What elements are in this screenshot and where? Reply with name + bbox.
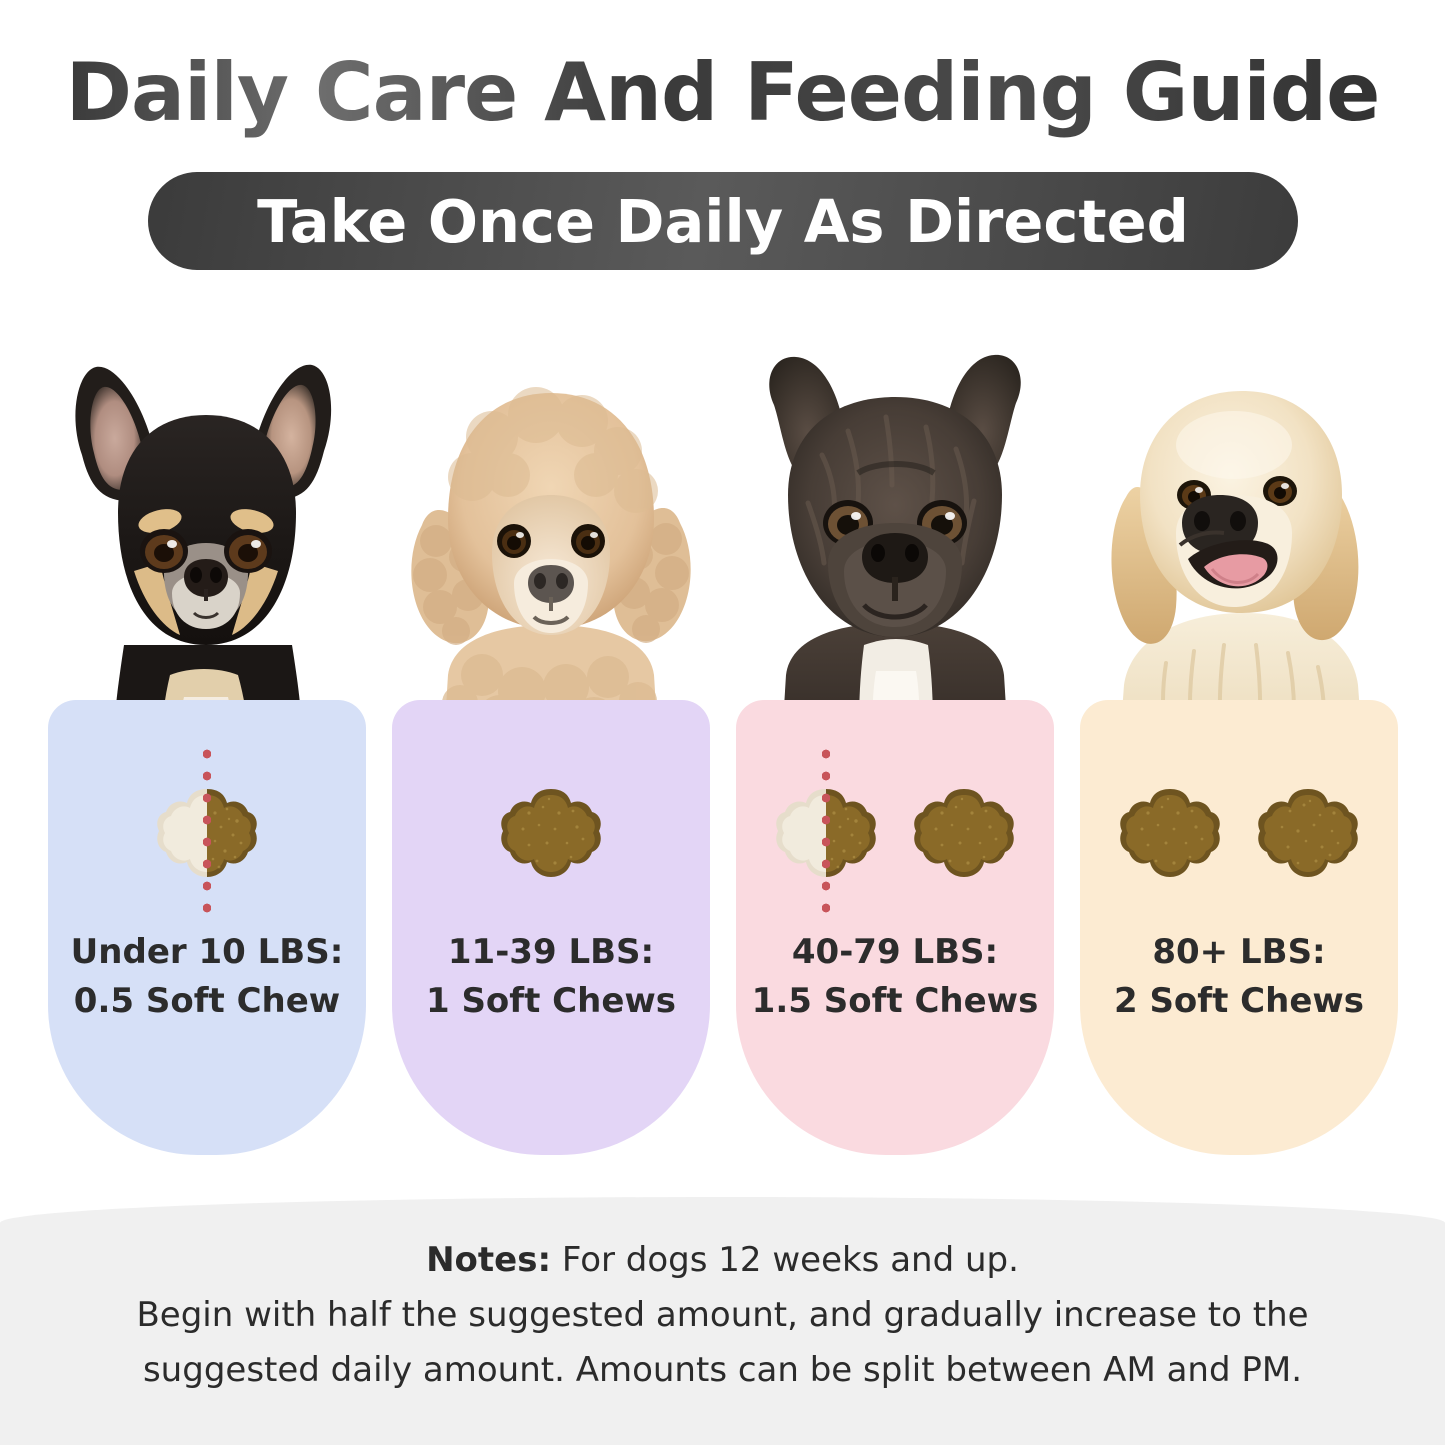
- full-chew-icon: [912, 781, 1016, 885]
- half-chew-icon: [155, 781, 259, 885]
- dog-photo-chihuahua: [48, 345, 366, 740]
- weight-range-text: 11-39 LBS:: [448, 932, 654, 972]
- full-chew-icon: [499, 781, 603, 885]
- dog-photo-poodle: [392, 345, 710, 740]
- weight-range-text: 40-79 LBS:: [792, 932, 998, 972]
- notes-text: Notes: For dogs 12 weeks and up. Begin w…: [0, 1233, 1445, 1398]
- subtitle-banner: Take Once Daily As Directed: [148, 172, 1298, 270]
- dog-photo-golden-retriever: [1080, 345, 1398, 740]
- half-chew-icon: [774, 781, 878, 885]
- notes-line-1: Notes: For dogs 12 weeks and up.: [0, 1233, 1445, 1288]
- notes-line-2: Begin with half the suggested amount, an…: [0, 1288, 1445, 1343]
- split-dotted-line: [822, 743, 830, 923]
- weight-range-text: Under 10 LBS:: [71, 932, 344, 972]
- card-dosage-label: 40-79 LBS: 1.5 Soft Chews: [736, 928, 1054, 1027]
- split-dotted-line: [203, 743, 211, 923]
- card-body: 40-79 LBS: 1.5 Soft Chews: [736, 700, 1054, 1155]
- dose-text: 1.5 Soft Chews: [736, 977, 1054, 1026]
- dose-text: 2 Soft Chews: [1080, 977, 1398, 1026]
- dose-text: 1 Soft Chews: [392, 977, 710, 1026]
- notes-line-3: suggested daily amount. Amounts can be s…: [0, 1343, 1445, 1398]
- subtitle-text: Take Once Daily As Directed: [257, 187, 1189, 256]
- notes-line-1-rest: For dogs 12 weeks and up.: [551, 1240, 1019, 1280]
- chew-illustration-group: [1080, 760, 1398, 905]
- weight-range-text: 80+ LBS:: [1152, 932, 1325, 972]
- chew-illustration-group: [48, 760, 366, 905]
- dosage-cards-row: Under 10 LBS: 0.5 Soft Chew: [0, 345, 1445, 1175]
- full-chew-icon: [1118, 781, 1222, 885]
- notes-label: Notes:: [426, 1240, 551, 1280]
- chew-illustration-group: [392, 760, 710, 905]
- dosage-card-under-10: Under 10 LBS: 0.5 Soft Chew: [48, 345, 366, 1175]
- dosage-card-11-39: 11-39 LBS: 1 Soft Chews: [392, 345, 710, 1175]
- full-chew-icon: [1256, 781, 1360, 885]
- card-body: 11-39 LBS: 1 Soft Chews: [392, 700, 710, 1155]
- dose-text: 0.5 Soft Chew: [48, 977, 366, 1026]
- feeding-guide-page: Daily Care And Feeding Guide Take Once D…: [0, 0, 1445, 1445]
- card-body: 80+ LBS: 2 Soft Chews: [1080, 700, 1398, 1155]
- dosage-card-80-plus: 80+ LBS: 2 Soft Chews: [1080, 345, 1398, 1175]
- notes-section: Notes: For dogs 12 weeks and up. Begin w…: [0, 1197, 1445, 1445]
- card-body: Under 10 LBS: 0.5 Soft Chew: [48, 700, 366, 1155]
- dog-photo-french-bulldog: [736, 345, 1054, 740]
- dosage-card-40-79: 40-79 LBS: 1.5 Soft Chews: [736, 345, 1054, 1175]
- card-dosage-label: 11-39 LBS: 1 Soft Chews: [392, 928, 710, 1027]
- page-title: Daily Care And Feeding Guide: [0, 46, 1445, 139]
- card-dosage-label: 80+ LBS: 2 Soft Chews: [1080, 928, 1398, 1027]
- chew-illustration-group: [736, 760, 1054, 905]
- card-dosage-label: Under 10 LBS: 0.5 Soft Chew: [48, 928, 366, 1027]
